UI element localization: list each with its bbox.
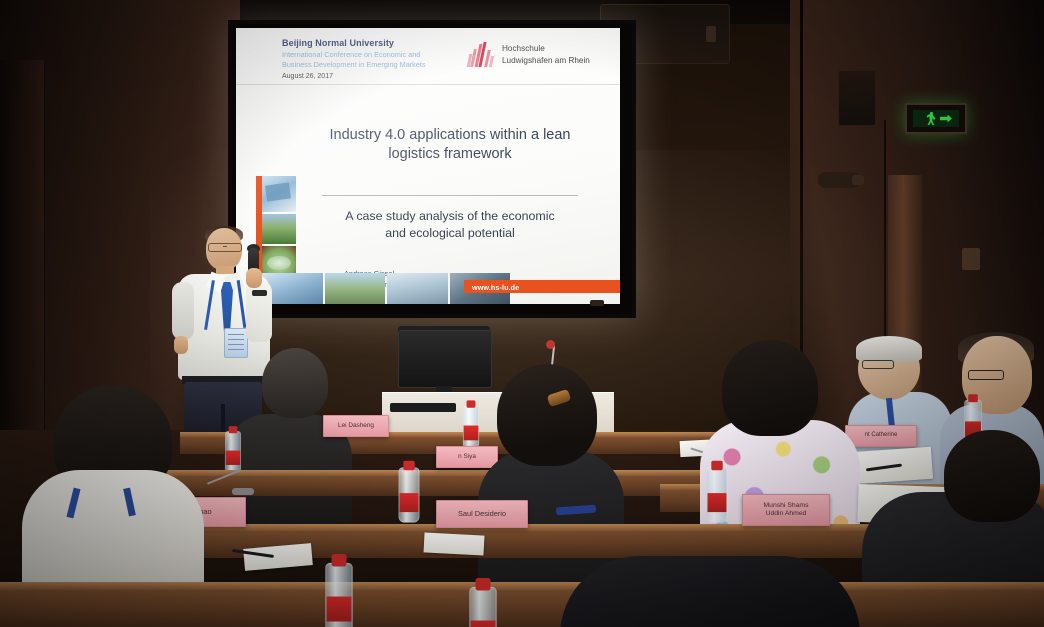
audience-member-foreground-center [560, 556, 860, 627]
microphone-head-icon [546, 340, 555, 349]
water-bottle [707, 467, 728, 522]
name-placard-munshi: Munshi Shams Uddin Ahmed [742, 494, 830, 526]
name-placard-catherine: nt Catherine [845, 425, 917, 447]
presenter-right-hand [246, 268, 262, 288]
water-bottle [469, 587, 497, 627]
title-line-2: logistics framework [388, 146, 511, 162]
name-placard-lei: Lei Dasheng [323, 415, 389, 437]
running-man-icon [926, 112, 937, 125]
audience-head-foreground-right [944, 430, 1040, 522]
wall-camera [818, 172, 860, 188]
screen-hinge [590, 300, 604, 306]
conference-line-2: Business Development in Emerging Markets [282, 60, 426, 69]
hochschule-mark-icon [468, 42, 496, 67]
water-bottle [463, 406, 479, 449]
slide-date: August 26, 2017 [282, 73, 333, 80]
band-photo-2 [325, 273, 386, 304]
subtitle-line-2: and ecological potential [385, 226, 515, 240]
logo-line-1: Hochschule [502, 44, 545, 53]
exit-arrow-icon [940, 115, 952, 123]
table-microphone-base [232, 488, 254, 495]
exit-sign-face [913, 110, 959, 127]
hochschule-logo: Hochschule Ludwigshafen am Rhein [468, 42, 590, 67]
placard-line-2: Uddin Ahmed [766, 510, 807, 517]
presenter [168, 228, 280, 434]
presenter-leg-gap [221, 404, 225, 434]
eyeglasses-icon-right [968, 370, 1004, 380]
band-photo-3 [387, 273, 448, 304]
audience-head-floral [722, 340, 818, 436]
title-rule [322, 195, 578, 196]
logo-line-2: Ludwigshafen am Rhein [502, 56, 590, 65]
lectern-keyboard [390, 403, 456, 412]
slide-header-divider [236, 84, 620, 85]
eyeglasses-icon-elder [862, 360, 894, 369]
wristwatch [252, 290, 267, 296]
slide-conference-title: International Conference on Economic and… [282, 50, 482, 69]
slide-header: Beijing Normal University International … [236, 28, 620, 84]
strip-photo-1 [262, 176, 296, 212]
water-bottle [225, 431, 241, 473]
wall-socket [962, 248, 980, 270]
hochschule-logo-text: Hochschule Ludwigshafen am Rhein [502, 43, 590, 66]
name-placard-siya: n Siya [436, 446, 498, 468]
conference-room-photo: Beijing Normal University International … [0, 0, 1044, 627]
title-line-1: Industry 4.0 applications within a lean [329, 127, 570, 143]
slide-url-bar: www.hs-lu.de [464, 280, 620, 293]
left-wall-panel [0, 60, 45, 470]
presenter-name-badge [224, 328, 248, 358]
lectern-monitor [398, 330, 492, 388]
subtitle-line-1: A case study analysis of the economic [345, 209, 554, 223]
presenter-left-arm [172, 282, 194, 340]
water-bottle [325, 563, 353, 627]
audience-hair-elder [856, 336, 922, 362]
eyeglasses-icon [208, 243, 242, 252]
conference-line-1: International Conference on Economic and [282, 50, 420, 59]
slide-url-text: www.hs-lu.de [472, 283, 519, 292]
wall-speaker [838, 70, 876, 126]
audience-head-center [497, 364, 597, 466]
name-placard-saul: Saul Desiderio [436, 500, 528, 528]
emergency-exit-sign [905, 103, 967, 134]
water-bottle [399, 467, 420, 522]
slide-university-name: Beijing Normal University [282, 38, 394, 48]
placard-line-1: Munshi Shams [764, 502, 809, 509]
slide-subtitle: A case study analysis of the economic an… [300, 208, 600, 241]
desk-row-4-edge [0, 582, 1044, 590]
presentation-slide: Beijing Normal University International … [236, 28, 620, 304]
paper-sheet [424, 532, 485, 555]
slide-title: Industry 4.0 applications within a lean … [300, 126, 600, 164]
presenter-left-hand [174, 336, 188, 354]
projector-lens-icon [706, 26, 716, 42]
audience-head-jacket [262, 348, 328, 418]
